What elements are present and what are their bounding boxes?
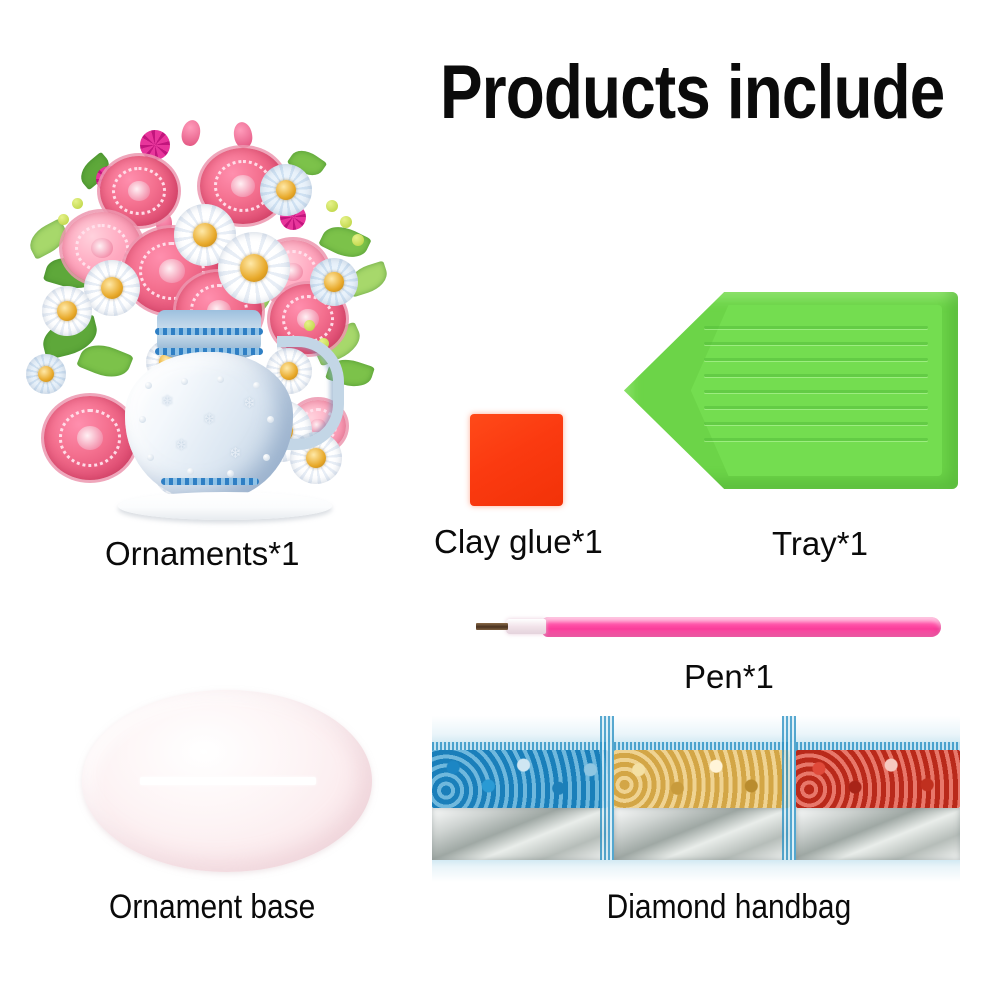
product-contents-infographic: Products include <box>0 0 1001 1001</box>
pearl-icon <box>267 416 274 423</box>
pen-ferrule <box>506 619 546 634</box>
page-title: Products include <box>440 56 915 130</box>
pearl-icon <box>181 378 188 385</box>
tray-groove <box>704 326 928 329</box>
tray-groove <box>704 374 928 377</box>
bag-seam <box>782 716 796 882</box>
product-image-clay-glue <box>470 414 563 506</box>
snowflake-icon: ❄ <box>243 396 256 411</box>
product-image-ornaments: ❄ ❄ ❄ ❄ ❄ <box>22 108 412 528</box>
bag-pocket-blue <box>432 716 608 882</box>
pearl-icon <box>187 468 194 475</box>
caption-diamond-handbag: Diamond handbag <box>607 888 852 927</box>
daisy-icon <box>26 354 66 394</box>
vase-band <box>161 478 259 485</box>
bead-icon <box>340 216 352 228</box>
caption-ornament-base: Ornament base <box>109 888 315 927</box>
caption-clay-glue: Clay glue*1 <box>434 523 603 561</box>
foil-strip <box>796 808 960 860</box>
product-image-pen <box>476 616 941 638</box>
tray-groove <box>704 438 928 441</box>
bag-pocket-red <box>796 716 960 882</box>
bead-icon <box>352 234 364 246</box>
pearl-icon <box>217 376 224 383</box>
product-image-tray <box>624 292 958 489</box>
daisy-icon <box>218 232 290 304</box>
bag-bottom-edge <box>432 860 960 882</box>
flower-bud-icon <box>232 121 254 150</box>
daisy-icon <box>310 258 358 306</box>
bag-seam <box>600 716 614 882</box>
caption-tray: Tray*1 <box>772 525 868 563</box>
daisy-icon <box>260 164 312 216</box>
tray-groove <box>704 342 928 345</box>
snowflake-icon: ❄ <box>161 394 174 409</box>
bead-icon <box>72 198 83 209</box>
rhinestones-gold <box>614 750 790 808</box>
ornament-base-slot <box>140 777 316 785</box>
caption-ornaments: Ornaments*1 <box>105 535 299 573</box>
tray-groove <box>704 358 928 361</box>
pearl-icon <box>147 454 154 461</box>
rhinestones-red <box>796 750 960 808</box>
product-image-diamond-handbag <box>432 716 960 882</box>
product-image-ornament-base <box>82 690 372 872</box>
flower-bud-icon <box>179 118 202 147</box>
pearl-icon <box>253 382 260 389</box>
pen-nib <box>476 623 508 630</box>
foil-strip <box>614 808 790 860</box>
daisy-icon <box>42 286 92 336</box>
pearl-icon <box>145 382 152 389</box>
caption-pen: Pen*1 <box>684 658 774 696</box>
bead-icon <box>326 200 338 212</box>
ornament-acrylic-stand <box>118 492 332 520</box>
snowflake-icon: ❄ <box>203 412 216 427</box>
pearl-icon <box>139 416 146 423</box>
vase-band <box>155 328 263 335</box>
vase-illustration: ❄ ❄ ❄ ❄ ❄ <box>117 308 307 498</box>
pen-barrel <box>542 617 941 637</box>
tray-groove <box>704 406 928 409</box>
pearl-icon <box>227 470 234 477</box>
tray-groove <box>704 390 928 393</box>
tray-groove <box>704 422 928 425</box>
bag-pocket-gold <box>614 716 790 882</box>
snowflake-icon: ❄ <box>175 438 188 453</box>
pearl-icon <box>263 454 270 461</box>
bead-icon <box>58 214 69 225</box>
rhinestones-blue <box>432 750 608 808</box>
foil-strip <box>432 808 608 860</box>
snowflake-icon: ❄ <box>229 446 242 461</box>
